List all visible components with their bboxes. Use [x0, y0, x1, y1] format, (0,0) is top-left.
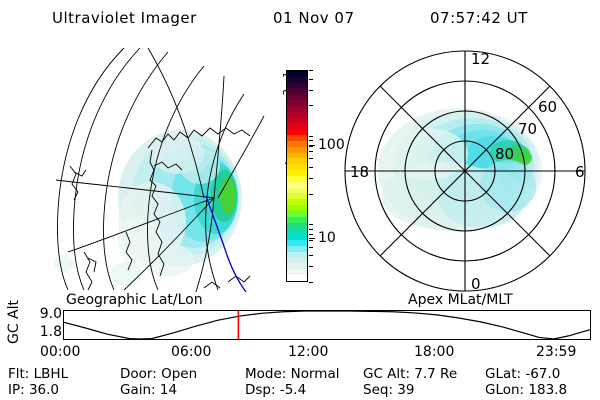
colorbar-minor-tick — [309, 255, 313, 256]
colorbar-minor-tick — [309, 282, 313, 283]
status-footer: Flt: LBHL IP: 36.0 Door: Open Gain: 14 M… — [0, 366, 600, 400]
geographic-svg — [28, 46, 268, 292]
instrument-title: Ultraviolet Imager — [52, 9, 197, 27]
status-gain: Gain: 14 — [120, 382, 177, 398]
colorbar-minor-tick — [309, 266, 313, 267]
mlat-label-70: 70 — [518, 120, 537, 138]
mlt-spokes — [345, 51, 585, 291]
geographic-projection-panel — [28, 46, 268, 292]
observation-date: 01 Nov 07 — [273, 9, 355, 27]
status-glon: GLon: 183.8 — [485, 382, 567, 398]
mlt-label-12: 12 — [471, 50, 490, 68]
colorbar-gradient — [286, 70, 308, 282]
colorbar-minor-tick — [309, 140, 313, 141]
time-tick-1: 06:00 — [171, 344, 211, 360]
aurora-emission-geographic — [54, 130, 242, 286]
colorbar-minor-tick — [309, 158, 313, 159]
status-door: Door: Open — [120, 366, 197, 382]
colorbar-minor-tick — [309, 79, 313, 80]
time-tick-4: 23:59 — [536, 344, 576, 360]
header-bar: Ultraviolet Imager 01 Nov 07 07:57:42 UT — [0, 6, 600, 32]
status-seq: Seq: 39 — [363, 382, 414, 398]
mlat-label-80: 80 — [495, 145, 514, 163]
mlt-label-6: 6 — [575, 163, 585, 181]
apex-svg: 12 18 6 0 60 70 80 — [332, 46, 598, 296]
status-filter: Flt: LBHL — [8, 366, 68, 382]
mlt-label-18: 18 — [350, 163, 369, 181]
altitude-svg — [64, 311, 590, 339]
status-ip: IP: 36.0 — [8, 382, 59, 398]
time-tick-0: 00:00 — [40, 344, 80, 360]
colorbar-minor-tick — [309, 146, 313, 147]
colorbar-minor-tick — [309, 229, 313, 230]
colorbar: photon cm-2s-1 100 10 — [262, 52, 332, 292]
mlt-label-0: 0 — [471, 275, 481, 293]
colorbar-minor-tick — [309, 240, 313, 241]
status-mode: Mode: Normal — [245, 366, 339, 382]
colorbar-minor-tick — [309, 70, 313, 71]
geographic-caption: Geographic Lat/Lon — [66, 292, 203, 308]
status-gc-alt: GC Alt: 7.7 Re — [363, 366, 457, 382]
colorbar-minor-tick — [309, 105, 313, 106]
altitude-y-ticks: 9.0 1.8 — [26, 306, 62, 346]
observation-time: 07:57:42 UT — [430, 9, 528, 27]
colorbar-minor-tick — [309, 178, 313, 179]
status-glat: GLat: -67.0 — [485, 366, 560, 382]
altitude-axis-label: GC Alt — [5, 300, 23, 348]
altitude-curve — [64, 311, 590, 339]
altitude-time-series-plot[interactable] — [63, 310, 591, 340]
alt-tick-high: 9.0 — [40, 306, 62, 322]
time-tick-3: 18:00 — [414, 344, 454, 360]
alt-tick-low: 1.8 — [40, 324, 62, 340]
colorbar-minor-tick — [309, 234, 313, 235]
mlat-label-60: 60 — [538, 98, 557, 116]
colorbar-minor-tick — [309, 167, 313, 168]
apex-caption: Apex MLat/MLT — [408, 292, 513, 308]
colorbar-minor-tick — [309, 194, 313, 195]
colorbar-minor-tick — [309, 224, 313, 225]
colorbar-minor-tick — [309, 247, 313, 248]
status-dsp: Dsp: -5.4 — [245, 382, 306, 398]
altitude-x-ticks: 00:00 06:00 12:00 18:00 23:59 — [0, 344, 600, 362]
colorbar-minor-tick — [309, 151, 313, 152]
colorbar-band-35 — [287, 275, 307, 281]
apex-mlt-panel: 12 18 6 0 60 70 80 — [332, 46, 598, 296]
colorbar-minor-tick — [309, 136, 313, 137]
colorbar-minor-tick — [309, 90, 313, 91]
time-tick-2: 12:00 — [288, 344, 328, 360]
